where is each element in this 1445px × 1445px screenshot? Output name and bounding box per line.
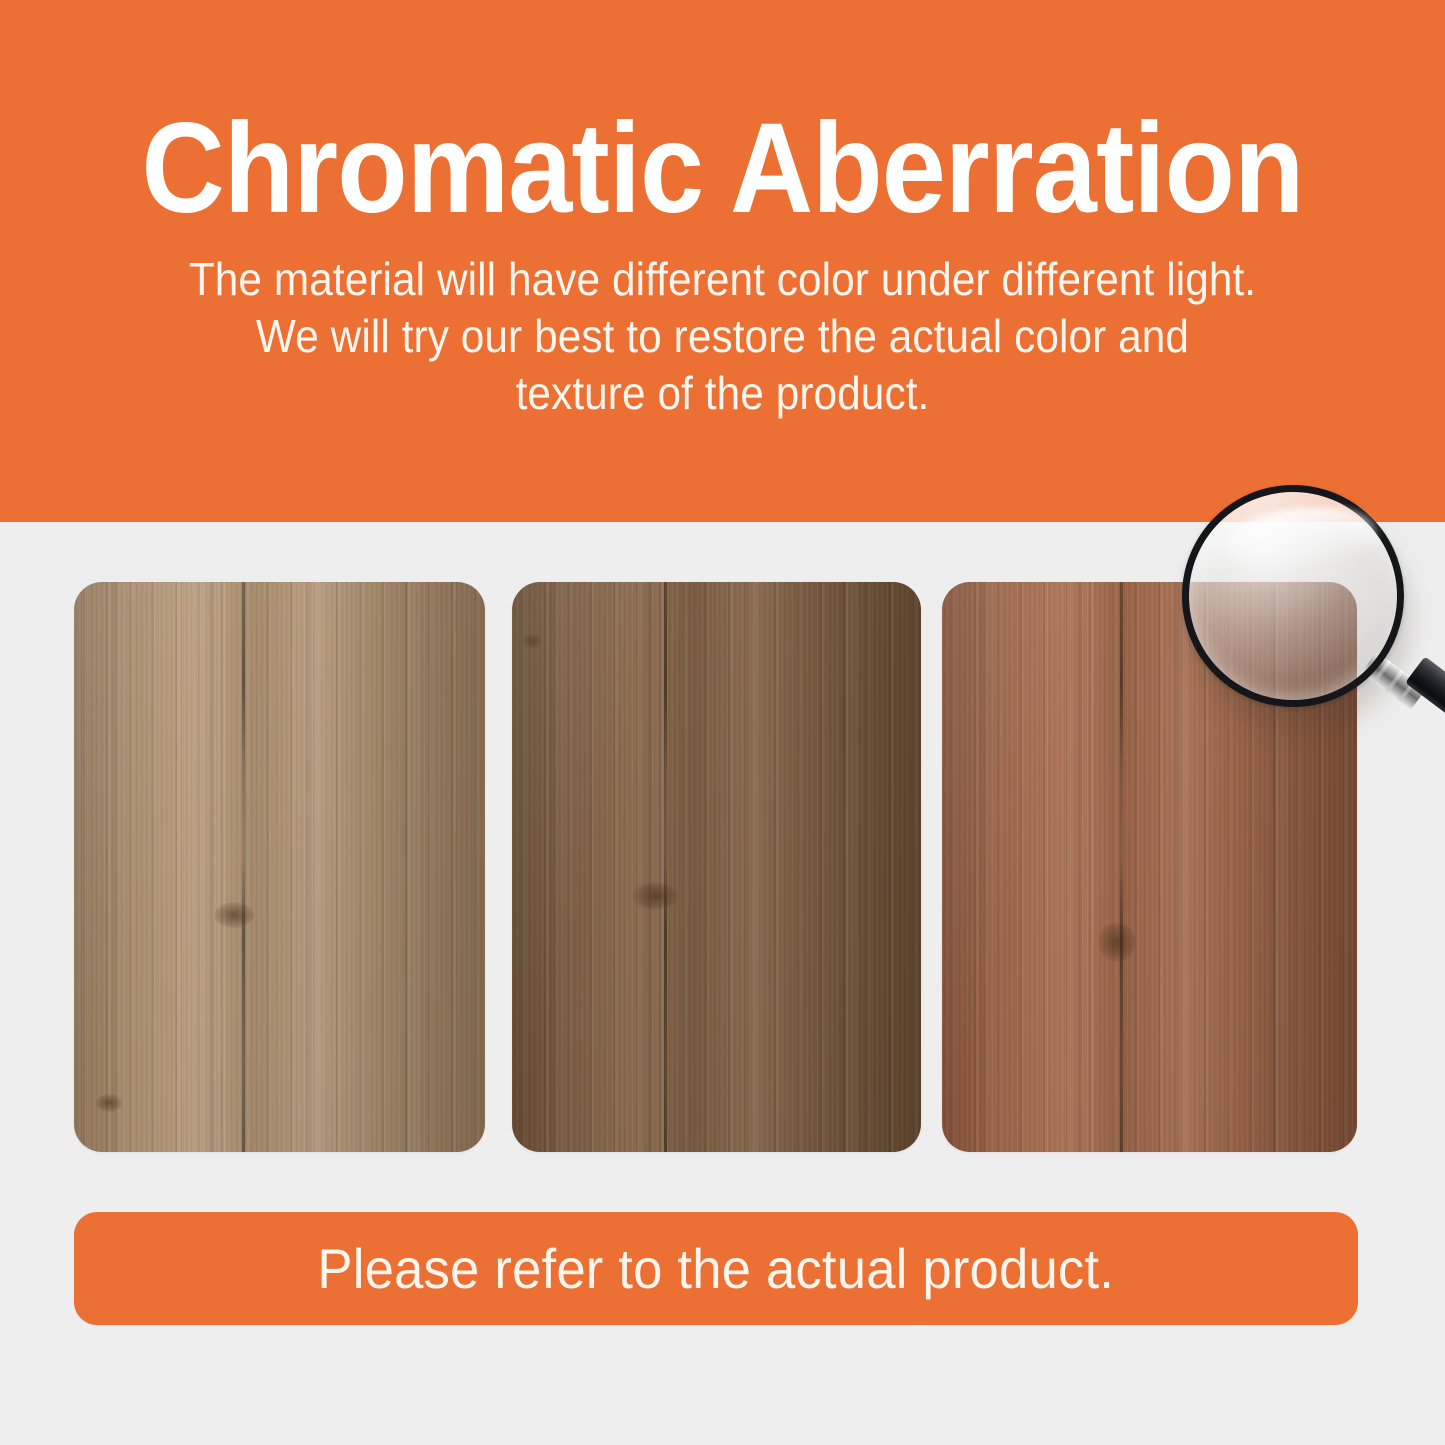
subtitle-line-1: The material will have different color u… xyxy=(58,251,1387,308)
wood-texture xyxy=(942,582,1357,1152)
wood-swatch-dark-walnut xyxy=(512,582,921,1152)
promo-graphic: Chromatic Aberration The material will h… xyxy=(0,0,1445,1445)
ferrule-ring xyxy=(1385,670,1404,693)
magnifier-handle xyxy=(1405,656,1445,770)
wood-swatch-light-oak xyxy=(74,582,485,1152)
wood-shading xyxy=(942,582,1357,1152)
footer-banner: Please refer to the actual product. xyxy=(74,1212,1358,1325)
subtitle-line-2: We will try our best to restore the actu… xyxy=(58,308,1387,365)
footer-banner-text: Please refer to the actual product. xyxy=(318,1236,1115,1301)
wood-shading xyxy=(74,582,485,1152)
wood-swatch-row xyxy=(74,582,1357,1152)
ferrule-ring xyxy=(1398,679,1417,702)
page-title: Chromatic Aberration xyxy=(72,104,1373,235)
magnifier-ferrule xyxy=(1361,652,1426,710)
header-subtitle: The material will have different color u… xyxy=(58,251,1387,422)
wood-texture xyxy=(512,582,921,1152)
header-band: Chromatic Aberration The material will h… xyxy=(0,0,1445,522)
wood-swatch-reddish-brown-oak xyxy=(942,582,1357,1152)
ferrule-ring xyxy=(1372,660,1391,683)
wood-texture xyxy=(74,582,485,1152)
subtitle-line-3: texture of the product. xyxy=(58,365,1387,422)
wood-shading xyxy=(512,582,921,1152)
